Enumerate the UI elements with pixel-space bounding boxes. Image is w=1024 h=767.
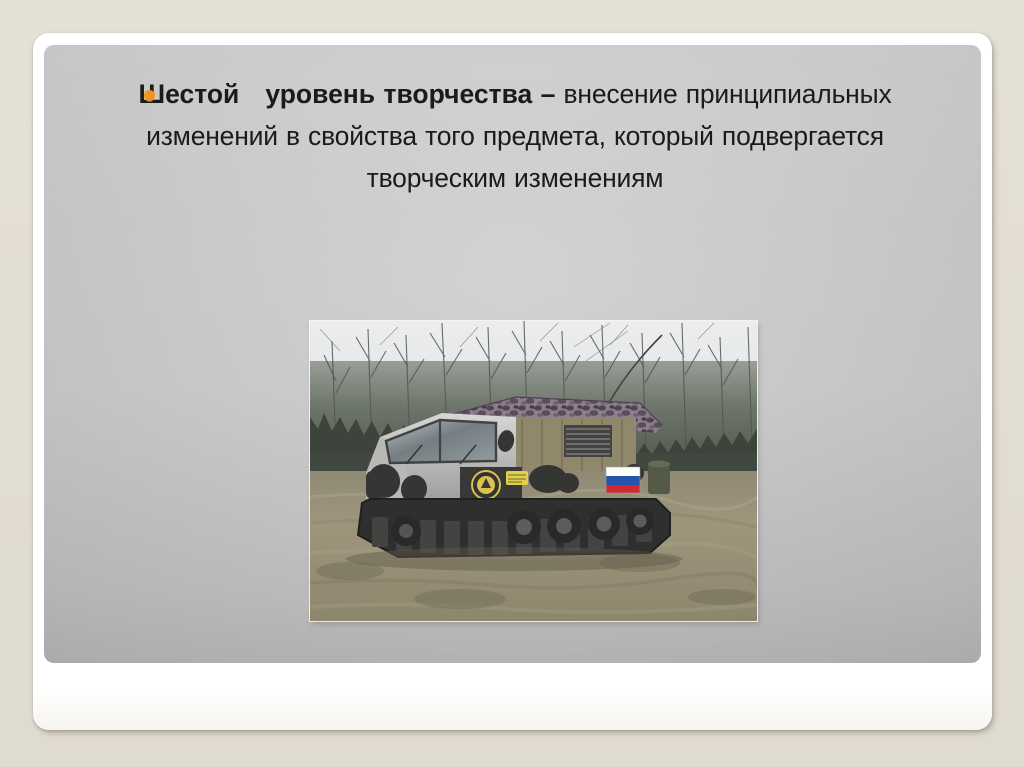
slide-card: Шестойуровень творчества – внесение прин… (33, 33, 992, 730)
bullet-dot-icon (144, 90, 155, 101)
photo-frame (310, 321, 757, 621)
slide-body-paragraph: Шестойуровень творчества – внесение прин… (100, 73, 930, 199)
slide-text-block: Шестойуровень творчества – внесение прин… (100, 73, 930, 199)
slide-lead-phrase: уровень творчества – (265, 79, 555, 109)
slide-stage: Шестойуровень творчества – внесение прин… (0, 0, 1024, 767)
tracked-all-terrain-vehicle-photo (310, 321, 757, 621)
photo-tone-overlay (310, 321, 757, 621)
photo-artwork (310, 321, 757, 621)
slide-content-panel: Шестойуровень творчества – внесение прин… (44, 45, 981, 663)
